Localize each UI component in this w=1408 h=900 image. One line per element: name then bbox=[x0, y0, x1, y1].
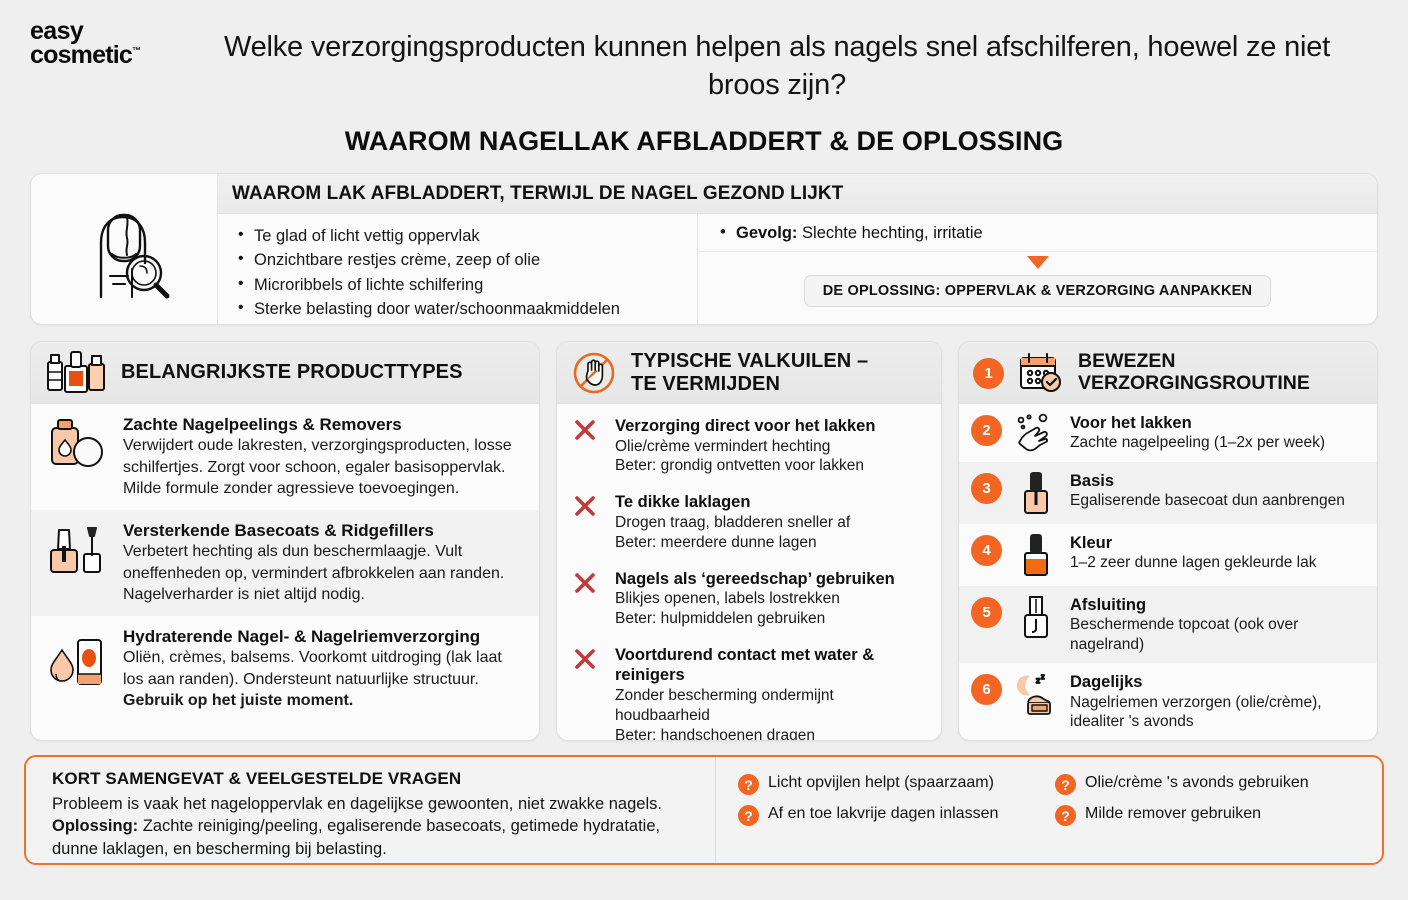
summary-solution: Oplossing: Zachte reiniging/peeling, ega… bbox=[52, 815, 697, 860]
consequence-text: Slechte hechting, irritatie bbox=[802, 224, 983, 242]
pitfall-line-1: Olie/crème vermindert hechting bbox=[615, 437, 875, 457]
nail-polish-bottles-icon bbox=[45, 350, 107, 396]
products-header: BELANGRIJKSTE PRODUCTTYPES bbox=[31, 342, 539, 404]
pitfall-heading: Verzorging direct voor het lakken bbox=[615, 416, 875, 437]
pitfall-line-1: Zonder bescherming ondermijnt houdbaarhe… bbox=[615, 686, 927, 726]
product-heading: Zachte Nagelpeelings & Removers bbox=[123, 414, 525, 435]
routine-row: 5 Afsluiting Beschermende topcoat (ook o… bbox=[959, 586, 1377, 663]
brand-line-2: cosmetic™ bbox=[30, 43, 210, 67]
routine-header: 1 BEWEZENVERZORGINGSROUTINE bbox=[959, 342, 1377, 404]
bullet-item: Microribbels of lichte schilfering bbox=[238, 273, 697, 297]
routine-body: Beschermende topcoat (ook over nagelrand… bbox=[1070, 615, 1365, 654]
svg-text:z: z bbox=[1041, 674, 1045, 681]
step-number-badge: 6 bbox=[971, 674, 1002, 705]
routine-body: Egaliserende basecoat dun aanbrengen bbox=[1070, 491, 1345, 511]
pitfall-row: Verzorging direct voor het lakken Olie/c… bbox=[557, 404, 941, 480]
routine-body: 1–2 zeer dunne lagen gekleurde lak bbox=[1070, 553, 1316, 573]
faq-item: ? Licht opvijlen helpt (spaarzaam) bbox=[738, 773, 1055, 795]
faq-label: Olie/crème 's avonds gebruiken bbox=[1085, 773, 1309, 794]
color-polish-bottle-icon bbox=[1012, 533, 1060, 577]
faq-item: ? Milde remover gebruiken bbox=[1055, 804, 1372, 826]
basecoat-bottle-icon bbox=[1012, 471, 1060, 515]
pitfalls-card: TYPISCHE VALKUILEN –TE VERMIJDEN Verzorg… bbox=[556, 341, 942, 741]
main-columns: BELANGRIJKSTE PRODUCTTYPES Zachte Nagelp… bbox=[30, 341, 1378, 741]
pitfalls-header: TYPISCHE VALKUILEN –TE VERMIJDEN bbox=[557, 342, 941, 404]
down-arrow-icon bbox=[1027, 256, 1049, 269]
bullet-item: Sterke belasting door water/schoonmaakmi… bbox=[238, 297, 697, 321]
routine-row: 6 z z Dagelijks Nagelriemen v bbox=[959, 663, 1377, 740]
top-panel-bullets: Te glad of licht vettig oppervlak Onzich… bbox=[218, 214, 698, 324]
pitfall-heading: Voortdurend contact met water & reiniger… bbox=[615, 645, 927, 686]
faq-item: ? Af en toe lakvrije dagen inlassen bbox=[738, 804, 1055, 826]
top-panel-title: WAAROM LAK AFBLADDERT, TERWIJL DE NAGEL … bbox=[218, 174, 1377, 214]
product-heading: Hydraterende Nagel- & Nagelriemverzorgin… bbox=[123, 626, 525, 647]
summary-title: KORT SAMENGEVAT & VEELGESTELDE VRAGEN bbox=[52, 769, 697, 789]
routine-body: Zachte nagelpeeling (1–2x per week) bbox=[1070, 433, 1325, 453]
faq-list: ? Licht opvijlen helpt (spaarzaam) ? Oli… bbox=[716, 757, 1382, 863]
pitfall-heading: Nagels als ‘gereedschap’ gebruiken bbox=[615, 569, 895, 590]
summary-text-block: KORT SAMENGEVAT & VEELGESTELDE VRAGEN Pr… bbox=[26, 757, 716, 863]
oil-drop-tube-icon bbox=[45, 626, 109, 692]
faq-label: Licht opvijlen helpt (spaarzaam) bbox=[768, 773, 994, 794]
solution-badge: DE OPLOSSING: OPPERVLAK & VERZORGING AAN… bbox=[804, 275, 1271, 307]
page-subtitle: WAAROM NAGELLAK AFBLADDERT & DE OPLOSSIN… bbox=[0, 126, 1408, 157]
pitfall-line-1: Drogen traag, bladderen sneller af bbox=[615, 513, 850, 533]
no-hand-icon bbox=[571, 350, 617, 396]
question-icon: ? bbox=[738, 774, 759, 795]
calendar-check-icon bbox=[1018, 351, 1064, 395]
pitfall-line-2: Beter: meerdere dunne lagen bbox=[615, 533, 850, 553]
hand-peeling-icon bbox=[1012, 413, 1060, 453]
pitfall-line-1: Blikjes openen, labels lostrekken bbox=[615, 589, 895, 609]
pitfall-row: Te dikke laklagen Drogen traag, bladdere… bbox=[557, 480, 941, 556]
pitfall-line-2: Beter: hulpmiddelen gebruiken bbox=[615, 609, 895, 629]
x-icon bbox=[573, 492, 603, 518]
brand-logo: easy cosmetic™ bbox=[30, 14, 210, 67]
pitfall-heading: Te dikke laklagen bbox=[615, 492, 850, 513]
bullet-item: Te glad of licht vettig oppervlak bbox=[238, 224, 697, 248]
routine-row: 4 Kleur 1–2 zeer dunne lagen gekleurde l… bbox=[959, 524, 1377, 586]
topcoat-bottle-icon bbox=[1012, 595, 1060, 639]
routine-heading: Basis bbox=[1070, 471, 1345, 491]
x-icon bbox=[573, 416, 603, 442]
page-header: easy cosmetic™ Welke verzorgingsproducte… bbox=[0, 0, 1408, 118]
consequence-label: Gevolg: bbox=[736, 224, 797, 242]
faq-item: ? Olie/crème 's avonds gebruiken bbox=[1055, 773, 1372, 795]
x-icon bbox=[573, 645, 603, 671]
pitfalls-title: TYPISCHE VALKUILEN –TE VERMIJDEN bbox=[631, 350, 868, 395]
x-icon bbox=[573, 569, 603, 595]
step-number-badge: 2 bbox=[971, 415, 1002, 446]
pitfall-line-2: Beter: grondig ontvetten voor lakken bbox=[615, 456, 875, 476]
pitfall-line-2: Beter: handschoenen dragen bbox=[615, 726, 927, 741]
routine-heading: Dagelijks bbox=[1070, 672, 1365, 692]
infographic-page: easy cosmetic™ Welke verzorgingsproducte… bbox=[0, 0, 1408, 900]
product-row: Zachte Nagelpeelings & Removers Verwijde… bbox=[31, 404, 539, 510]
routine-heading: Voor het lakken bbox=[1070, 413, 1325, 433]
step-number-badge: 4 bbox=[971, 535, 1002, 566]
routine-title: BEWEZENVERZORGINGSROUTINE bbox=[1078, 351, 1310, 395]
question-icon: ? bbox=[1055, 774, 1076, 795]
routine-card: 1 BEWEZENVERZORGINGSROUTINE bbox=[958, 341, 1378, 741]
step-number-badge: 3 bbox=[971, 473, 1002, 504]
summary-solution-label: Oplossing: bbox=[52, 817, 138, 835]
routine-row: 3 Basis Egaliserende basecoat dun aanbre… bbox=[959, 462, 1377, 524]
product-note: Gebruik op het juiste moment. bbox=[123, 690, 525, 711]
page-title: Welke verzorgingsproducten kunnen helpen… bbox=[210, 14, 1384, 105]
product-body: Verwijdert oude lakresten, verzorgingspr… bbox=[123, 435, 525, 478]
routine-heading: Kleur bbox=[1070, 533, 1316, 553]
moon-cream-icon: z z bbox=[1012, 672, 1060, 716]
faq-label: Milde remover gebruiken bbox=[1085, 804, 1261, 825]
brand-line-1: easy bbox=[30, 20, 210, 43]
summary-line-1: Probleem is vaak het nageloppervlak en d… bbox=[52, 793, 697, 815]
svg-text:z: z bbox=[1036, 676, 1040, 685]
product-note: Nagelverharder is niet altijd nodig. bbox=[123, 584, 525, 605]
top-panel: WAAROM LAK AFBLADDERT, TERWIJL DE NAGEL … bbox=[30, 173, 1378, 325]
summary-footer: KORT SAMENGEVAT & VEELGESTELDE VRAGEN Pr… bbox=[24, 755, 1384, 865]
bullet-item: Onzichtbare restjes crème, zeep of olie bbox=[238, 248, 697, 272]
pitfall-row: Nagels als ‘gereedschap’ gebruiken Blikj… bbox=[557, 557, 941, 633]
step-number-badge: 5 bbox=[971, 597, 1002, 628]
routine-row: 2 Voor het lakken Zachte nagelpeeling (1… bbox=[959, 404, 1377, 462]
routine-body: Nagelriemen verzorgen (olie/crème), idea… bbox=[1070, 693, 1365, 732]
products-title: BELANGRIJKSTE PRODUCTTYPES bbox=[121, 361, 463, 383]
trademark-symbol: ™ bbox=[132, 46, 140, 56]
product-body: Oliën, crèmes, balsems. Voorkomt uitdrog… bbox=[123, 647, 525, 690]
nail-magnifier-icon bbox=[31, 174, 218, 324]
pitfall-row: Voortdurend contact met water & reiniger… bbox=[557, 633, 941, 741]
step-number-badge: 1 bbox=[973, 358, 1004, 389]
consequence-row: Gevolg: Slechte hechting, irritatie bbox=[698, 214, 1377, 252]
remover-bottle-pad-icon bbox=[45, 414, 109, 478]
basecoat-brush-icon bbox=[45, 520, 109, 584]
question-icon: ? bbox=[1055, 805, 1076, 826]
product-row: Versterkende Basecoats & Ridgefillers Ve… bbox=[31, 510, 539, 616]
product-heading: Versterkende Basecoats & Ridgefillers bbox=[123, 520, 525, 541]
product-row: Hydraterende Nagel- & Nagelriemverzorgin… bbox=[31, 616, 539, 722]
products-card: BELANGRIJKSTE PRODUCTTYPES Zachte Nagelp… bbox=[30, 341, 540, 741]
routine-heading: Afsluiting bbox=[1070, 595, 1365, 615]
top-panel-content: WAAROM LAK AFBLADDERT, TERWIJL DE NAGEL … bbox=[218, 174, 1377, 324]
product-note: Milde formule zonder agressieve toevoegi… bbox=[123, 478, 525, 499]
faq-label: Af en toe lakvrije dagen inlassen bbox=[768, 804, 998, 825]
summary-solution-text: Zachte reiniging/peeling, egaliserende b… bbox=[52, 817, 660, 857]
product-body: Verbetert hechting als dun beschermlaagj… bbox=[123, 541, 525, 584]
question-icon: ? bbox=[738, 805, 759, 826]
